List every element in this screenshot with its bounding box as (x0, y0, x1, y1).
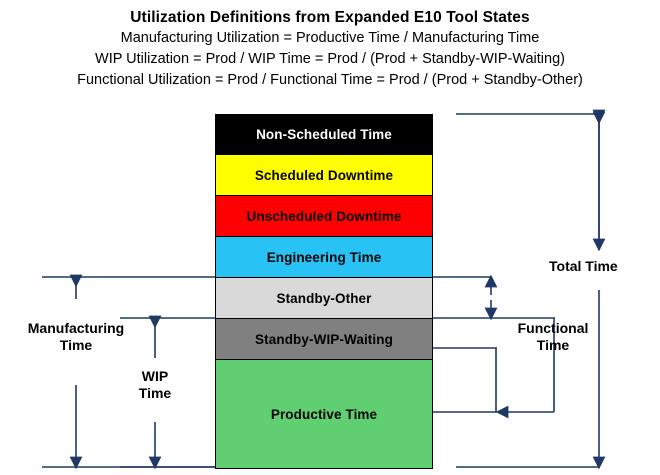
tool-state-segment: Scheduled Downtime (216, 155, 432, 196)
definition-line-1: Manufacturing Utilization = Productive T… (0, 28, 660, 49)
tool-state-segment: Standby-WIP-Waiting (216, 319, 432, 360)
tool-state-label: Productive Time (271, 407, 377, 422)
label-wip-time-line2: Time (122, 385, 188, 402)
tool-state-segment: Non-Scheduled Time (216, 115, 432, 155)
label-manufacturing-time: Manufacturing Time (12, 320, 140, 354)
tool-state-segment: Engineering Time (216, 237, 432, 278)
tool-state-label: Standby-WIP-Waiting (255, 332, 393, 347)
page-title: Utilization Definitions from Expanded E1… (0, 8, 660, 28)
label-functional-time-line1: Functional (503, 320, 603, 337)
label-functional-time-line2: Time (503, 337, 603, 354)
tool-state-label: Engineering Time (267, 250, 382, 265)
label-functional-time: Functional Time (503, 320, 603, 354)
definition-line-2: WIP Utilization = Prod / WIP Time = Prod… (0, 49, 660, 70)
tool-state-label: Scheduled Downtime (255, 168, 393, 183)
label-wip-time: WIP Time (122, 368, 188, 402)
tool-state-segment: Productive Time (216, 360, 432, 468)
tool-state-label: Standby-Other (276, 291, 371, 306)
header-block: Utilization Definitions from Expanded E1… (0, 8, 660, 91)
tool-state-segment: Unscheduled Downtime (216, 196, 432, 237)
label-wip-time-line1: WIP (122, 368, 188, 385)
tool-state-label: Non-Scheduled Time (256, 127, 392, 142)
label-total-time: Total Time (549, 258, 618, 275)
definition-line-3: Functional Utilization = Prod / Function… (0, 70, 660, 91)
tool-state-stack: Non-Scheduled TimeScheduled DowntimeUnsc… (215, 114, 433, 469)
label-manufacturing-time-line2: Time (12, 337, 140, 354)
tool-state-segment: Standby-Other (216, 278, 432, 319)
label-manufacturing-time-line1: Manufacturing (12, 320, 140, 337)
tool-state-label: Unscheduled Downtime (246, 209, 401, 224)
